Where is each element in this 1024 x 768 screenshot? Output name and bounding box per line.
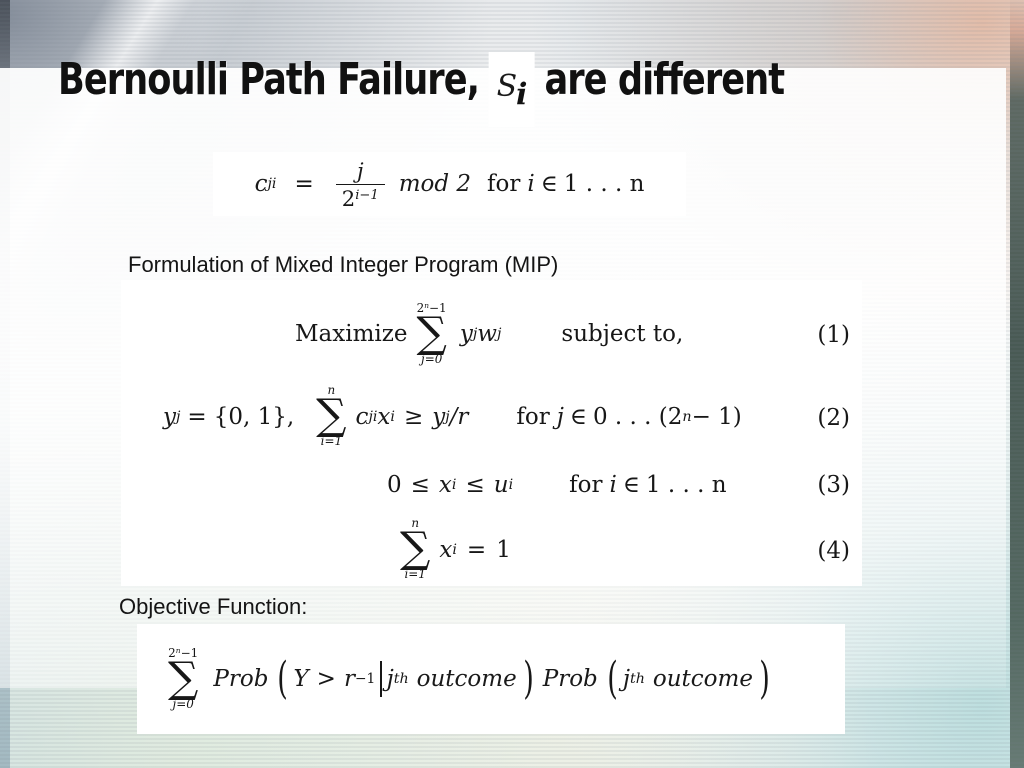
geq-sign: ≥ bbox=[404, 404, 423, 430]
c-base-2: c bbox=[356, 404, 369, 430]
mip-equation-2: yj = {0, 1}, n ∑ i=1 cjixi ≥ yj/r for j … bbox=[163, 385, 742, 448]
mip-equation-3: 0 ≤ xi ≤ ui for i ∈ 1 . . . n bbox=[387, 472, 727, 498]
slide-title-part1: Bernoulli Path Failure, bbox=[58, 54, 479, 105]
rhs-y-base: y bbox=[432, 404, 445, 430]
prob-word-2: Prob bbox=[543, 666, 598, 692]
x-base-2: x bbox=[377, 404, 390, 430]
rhs-one-4: 1 bbox=[496, 537, 511, 563]
domain-for-word-3: for bbox=[569, 472, 602, 498]
yj-subscript: j bbox=[176, 409, 180, 425]
fraction-denominator: 2i−1 bbox=[336, 184, 385, 211]
var-r-exponent: −1 bbox=[355, 671, 375, 687]
big-paren-open-2: ( bbox=[607, 663, 618, 696]
domain-range: 1 . . . n bbox=[564, 171, 645, 197]
fraction: j 2i−1 bbox=[336, 158, 385, 211]
maximize-word: Maximize bbox=[295, 321, 407, 347]
mip-equations-box: Maximize 2n−1 ∑ j=0 yjwj subject to, (1)… bbox=[121, 280, 862, 586]
equals-sign-2: = bbox=[187, 404, 206, 430]
big-paren-open-1: ( bbox=[278, 663, 289, 696]
lower-bound-zero: 0 bbox=[387, 472, 402, 498]
summation-operator-2: n ∑ i=1 bbox=[316, 385, 346, 448]
summation-operator-obj: 2n−1 ∑ j=0 bbox=[168, 647, 198, 711]
equation-number-1: (1) bbox=[817, 322, 850, 348]
u-subscript-3: i bbox=[509, 477, 514, 493]
background-right-edge-bar bbox=[1010, 0, 1024, 768]
slide-title-part2: are different bbox=[544, 54, 784, 105]
sigma-glyph-4: ∑ bbox=[400, 529, 430, 569]
x-subscript-2: i bbox=[390, 409, 395, 425]
domain-range-exp-2: n bbox=[682, 409, 691, 425]
objective-function-row: 2n−1 ∑ j=0 Prob ( Y > r−1 jth outcome ) … bbox=[165, 647, 773, 711]
equals-sign-4: = bbox=[467, 537, 486, 563]
var-Y: Y bbox=[293, 666, 308, 692]
cond-outcome-2: outcome bbox=[653, 666, 753, 692]
cond-th-1: th bbox=[394, 671, 409, 687]
sum-lower-limit-2: i=1 bbox=[321, 436, 342, 448]
summation-operator: 2n−1 ∑ j=0 bbox=[416, 302, 446, 366]
sum-lower-limit-4: i=1 bbox=[404, 569, 425, 581]
x-base-3: x bbox=[439, 472, 452, 498]
slide-title: Bernoulli Path Failure, Si are different bbox=[58, 52, 778, 127]
sigma-glyph-2: ∑ bbox=[316, 396, 346, 436]
cond-th-2: th bbox=[630, 671, 645, 687]
binary-set: {0, 1}, bbox=[214, 404, 294, 430]
prob-word-1: Prob bbox=[213, 666, 268, 692]
conditional-bar bbox=[380, 661, 381, 697]
slide-canvas: Bernoulli Path Failure, Si are different… bbox=[0, 0, 1024, 768]
y-base: y bbox=[460, 321, 473, 347]
title-math-base: S bbox=[497, 69, 516, 104]
sigma-glyph-obj: ∑ bbox=[168, 659, 198, 699]
leq-sign-1: ≤ bbox=[411, 472, 430, 498]
cji-base: c bbox=[255, 171, 268, 197]
cond-j-1: j bbox=[387, 666, 394, 692]
formula-definition-box: cji = j 2i−1 mod 2 for i ∈ 1 . . . n bbox=[213, 152, 686, 216]
equation-number-2: (2) bbox=[817, 405, 850, 431]
element-of-sign-3: ∈ bbox=[623, 472, 640, 498]
mod-operator: mod 2 bbox=[399, 171, 471, 197]
equation-number-4: (4) bbox=[817, 538, 850, 564]
big-paren-close-1: ) bbox=[523, 663, 534, 696]
big-paren-close-2: ) bbox=[759, 663, 770, 696]
x-subscript-3: i bbox=[452, 477, 457, 493]
element-of-sign: ∈ bbox=[541, 171, 558, 197]
domain-variable-3: i bbox=[610, 472, 617, 498]
sum-lower-limit: j=0 bbox=[421, 354, 442, 366]
domain-variable: i bbox=[527, 171, 534, 197]
subject-to-text: subject to, bbox=[561, 321, 683, 347]
yj-base: y bbox=[163, 404, 176, 430]
cji-subscript: ji bbox=[267, 176, 276, 192]
domain-for-word: for bbox=[487, 171, 520, 197]
w-subscript: j bbox=[497, 326, 501, 342]
fraction-numerator: j bbox=[351, 158, 370, 184]
denominator-exponent: i−1 bbox=[355, 188, 379, 203]
cond-outcome-1: outcome bbox=[417, 666, 517, 692]
domain-range-3: 1 . . . n bbox=[646, 472, 727, 498]
rhs-divide-r: /r bbox=[450, 404, 469, 430]
summation-operator-4: n ∑ i=1 bbox=[400, 518, 430, 581]
c-subscript-2: ji bbox=[368, 409, 377, 425]
equation-number-3: (3) bbox=[817, 472, 850, 498]
domain-for-word-2: for bbox=[516, 404, 549, 430]
title-inline-math-image: Si bbox=[489, 52, 535, 127]
leq-sign-2: ≤ bbox=[465, 472, 484, 498]
domain-range-end-2: − 1) bbox=[692, 404, 742, 430]
cond-j-2: j bbox=[623, 666, 630, 692]
title-math-subscript: i bbox=[516, 77, 526, 112]
domain-range-start-2: 0 . . . (2 bbox=[593, 404, 682, 430]
u-base-3: u bbox=[494, 472, 509, 498]
greater-than-sign: > bbox=[317, 666, 336, 692]
w-base: w bbox=[477, 321, 497, 347]
sum-lower-limit-obj: j=0 bbox=[173, 699, 194, 711]
denominator-base: 2 bbox=[342, 186, 355, 211]
formula-definition-row: cji = j 2i−1 mod 2 for i ∈ 1 . . . n bbox=[255, 158, 645, 211]
domain-variable-2: j bbox=[557, 404, 564, 430]
x-base-4: x bbox=[439, 537, 452, 563]
mip-equation-1: Maximize 2n−1 ∑ j=0 yjwj subject to, bbox=[295, 302, 683, 366]
mip-equation-4: n ∑ i=1 xi = 1 bbox=[397, 518, 511, 581]
equals-sign: = bbox=[294, 171, 313, 197]
x-subscript-4: i bbox=[452, 542, 457, 558]
objective-function-box: 2n−1 ∑ j=0 Prob ( Y > r−1 jth outcome ) … bbox=[137, 624, 845, 734]
sigma-glyph: ∑ bbox=[416, 314, 446, 354]
caption-objective: Objective Function: bbox=[119, 594, 307, 620]
var-r: r bbox=[344, 666, 355, 692]
element-of-sign-2: ∈ bbox=[570, 404, 587, 430]
caption-mip: Formulation of Mixed Integer Program (MI… bbox=[128, 252, 558, 278]
